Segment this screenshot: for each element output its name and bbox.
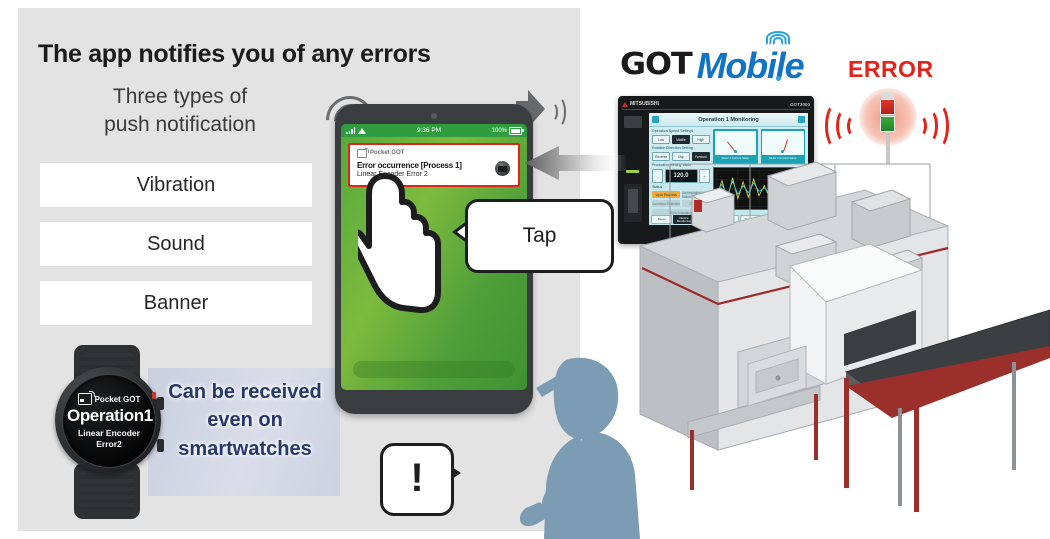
- hmi-side-button[interactable]: [624, 116, 642, 128]
- notification-title: Error occurrence [Process 1]: [357, 161, 511, 170]
- watch-alert-detail-line-2: Error2: [67, 439, 151, 450]
- subheading-line-1: Three types of: [40, 83, 320, 111]
- hmi-mode-high[interactable]: High: [692, 135, 710, 144]
- hmi-mode-low[interactable]: Low: [652, 135, 670, 144]
- factory-machine-illustration: [630, 150, 1050, 539]
- phone-status-bar: 9:36 PM 100%: [341, 124, 527, 137]
- watch-crown-button[interactable]: [157, 397, 164, 410]
- error-label: ERROR: [848, 56, 934, 83]
- smartwatch-blurb-line-1: Can be received: [150, 378, 340, 406]
- tower-red-lamp: [880, 99, 895, 115]
- status-bar-time: 9:36 PM: [366, 127, 491, 134]
- alert-waves-left-icon: [828, 98, 862, 148]
- pocket-got-icon: [357, 149, 367, 158]
- subheading: Three types of push notification: [40, 83, 320, 138]
- smartwatch-blurb-line-3: smartwatches: [150, 435, 340, 463]
- alert-waves-right-icon: [912, 98, 946, 148]
- hmi-brand-logo: MITSUBISHI: [622, 101, 659, 107]
- hmi-title-bar: Operation 1 Monitoring: [649, 113, 808, 127]
- watch-app-line: Pocket GOT: [67, 393, 151, 405]
- hmi-mode-label: Operation Speed Settings: [652, 129, 710, 133]
- hmi-screen-title: Operation 1 Monitoring: [698, 117, 759, 123]
- tower-cap: [881, 92, 894, 99]
- battery-icon: [509, 127, 522, 135]
- notification-app-row: Pocket GOT: [357, 149, 511, 158]
- notification-app-name: Pocket GOT: [370, 150, 404, 156]
- watch-notification: Pocket GOT Operation1 Linear Encoder Err…: [67, 393, 151, 449]
- notification-thumbnail: [495, 161, 510, 176]
- battery-percent-label: 100%: [492, 128, 507, 134]
- watch-alert-title: Operation1: [67, 406, 151, 426]
- signal-bars-icon: [346, 127, 355, 134]
- notification-type-banner: Banner: [40, 281, 312, 325]
- hmi-settings-icon[interactable]: [798, 116, 805, 123]
- hmi-mode-buttons: Low Middle High: [652, 135, 710, 144]
- status-bar-left: [346, 127, 366, 134]
- logo-mobile-label: Mobile: [697, 45, 804, 86]
- hmi-model-text: GOT2000: [790, 102, 810, 107]
- pocket-got-icon: [78, 393, 92, 405]
- tap-callout: Tap: [465, 199, 614, 273]
- wifi-signal-icon: [767, 34, 789, 50]
- smartwatch-blurb-line-2: even on: [150, 406, 340, 434]
- watch-accent-marker: [152, 392, 156, 399]
- smartwatch-blurb-text: Can be received even on smartwatches: [150, 378, 340, 463]
- watch-app-name: Pocket GOT: [95, 395, 141, 404]
- mitsubishi-mark-icon: [622, 102, 628, 107]
- person-silhouette: [490, 340, 640, 539]
- notification-type-vibration: Vibration: [40, 163, 312, 207]
- page-title: The app notifies you of any errors: [38, 40, 458, 69]
- watch-alert-detail: Linear Encoder Error2: [67, 428, 151, 449]
- status-bar-right: 100%: [492, 127, 522, 135]
- notification-flow-arrow: [523, 145, 627, 181]
- tower-green-lamp: [880, 116, 895, 132]
- subheading-line-2: push notification: [40, 111, 320, 139]
- tapping-hand-icon: [358, 172, 442, 314]
- watch-side-button[interactable]: [157, 439, 164, 452]
- hmi-home-icon[interactable]: [652, 116, 659, 123]
- watch-alert-detail-line-1: Linear Encoder: [67, 428, 151, 439]
- logo-mobile-text: Mobile: [697, 49, 804, 82]
- notification-type-sound: Sound: [40, 222, 312, 266]
- smartwatch: Pocket GOT Operation1 Linear Encoder Err…: [48, 345, 168, 517]
- watch-case: Pocket GOT Operation1 Linear Encoder Err…: [55, 367, 161, 473]
- hmi-brand-text: MITSUBISHI: [630, 101, 659, 107]
- exclamation-icon: !: [410, 458, 423, 498]
- hmi-bezel-top: MITSUBISHI GOT2000: [622, 99, 810, 109]
- alert-callout: !: [380, 443, 454, 516]
- hmi-accent-line: [622, 109, 810, 110]
- phone-camera: [431, 113, 437, 119]
- logo-got-text: GOT: [620, 47, 692, 82]
- wifi-icon: [358, 128, 366, 134]
- got-mobile-logo: GOT Mobile: [622, 48, 803, 82]
- hmi-mode-middle[interactable]: Middle: [672, 135, 690, 144]
